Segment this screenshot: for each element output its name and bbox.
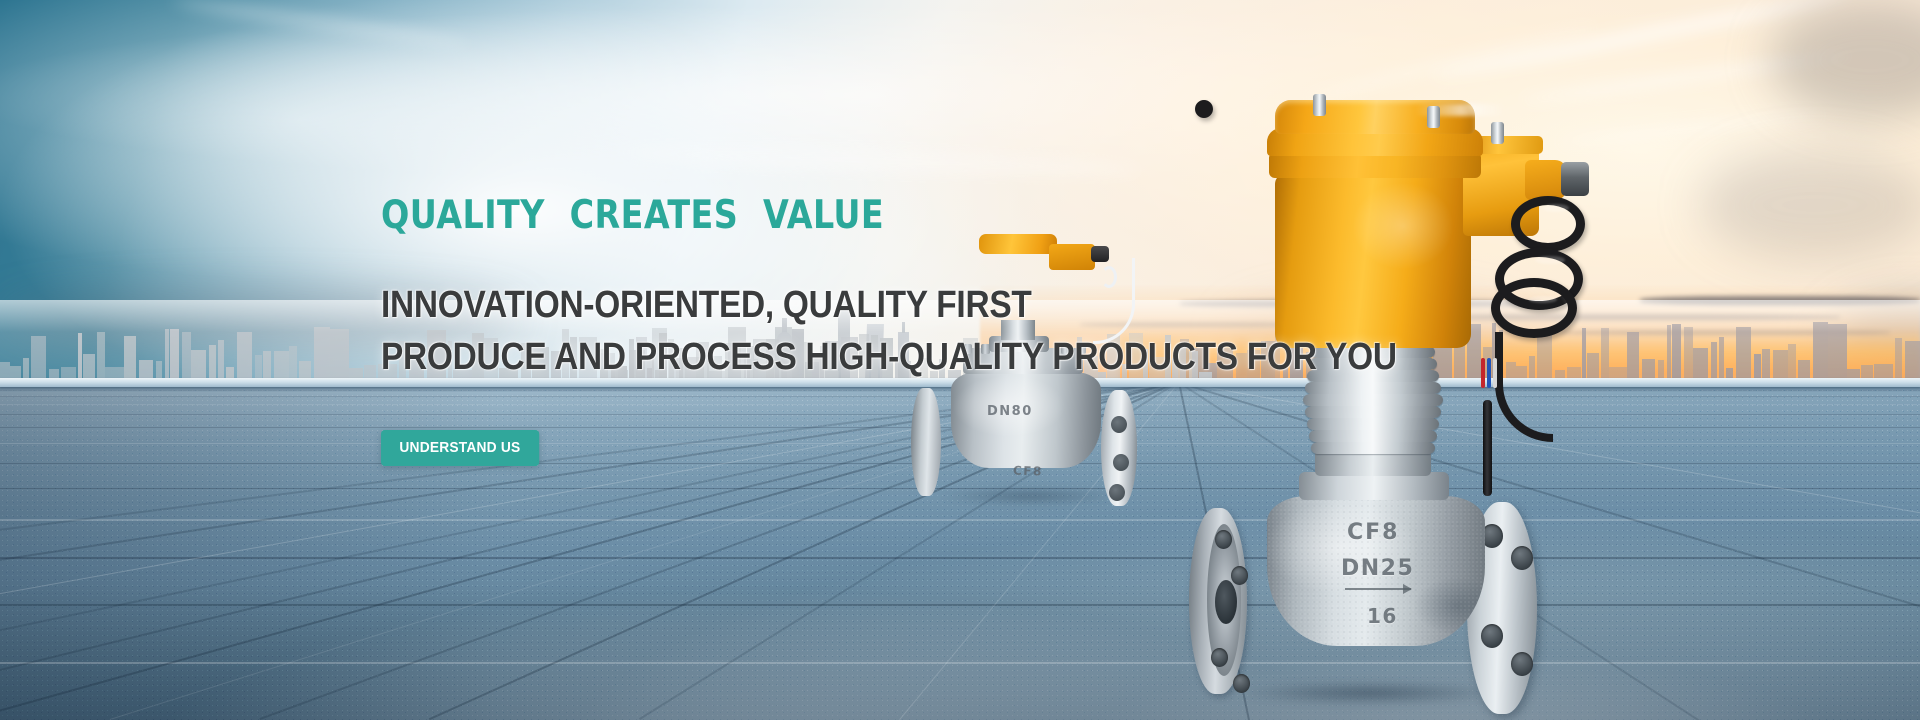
flange-bolt-hole xyxy=(1511,652,1533,676)
flange-bolt-hole xyxy=(1109,484,1125,501)
valve-material-marking: CF8 xyxy=(1347,520,1399,545)
subheadline-line-2: PRODUCE AND PROCESS HIGH-QUALITY PRODUCT… xyxy=(381,331,1437,383)
flange-bolt-hole xyxy=(1481,624,1503,648)
valve-bonnet xyxy=(1299,472,1449,500)
subheadline-line-1: INNOVATION-ORIENTED, QUALITY FIRST xyxy=(381,279,1437,331)
headline-word: VALUE xyxy=(763,196,884,235)
flange-bolt-hole xyxy=(1215,530,1232,549)
understand-us-button[interactable]: UNDERSTAND US xyxy=(381,430,539,466)
headline-word: QUALITY xyxy=(381,196,545,235)
hero-banner: DN80 CF8 CF8 DN25 xyxy=(0,0,1920,720)
valve-size-marking: DN25 xyxy=(1341,556,1414,581)
page-title: QUALITYCREATESVALUE xyxy=(381,196,1521,235)
hero-subheadline: INNOVATION-ORIENTED, QUALITY FIRST PRODU… xyxy=(381,279,1437,383)
hero-copy: QUALITYCREATESVALUE INNOVATION-ORIENTED,… xyxy=(381,196,1581,466)
actuator-cap xyxy=(1275,100,1475,134)
valve-pressure-marking: 16 xyxy=(1367,604,1398,628)
flange-bolt-hole xyxy=(1231,566,1248,585)
cable-gland xyxy=(1561,162,1589,196)
valve-bore xyxy=(1215,580,1237,624)
flange-bolt-hole xyxy=(1511,546,1533,570)
flow-direction-arrow-icon xyxy=(1345,588,1411,590)
flange-bolt-hole xyxy=(1233,674,1250,693)
flange-bolt-hole xyxy=(1211,648,1228,667)
actuator-bolt xyxy=(1313,94,1326,116)
actuator-bolt xyxy=(1491,122,1504,144)
headline-word: CREATES xyxy=(570,196,739,235)
cloud-mass xyxy=(1700,150,1920,260)
actuator-bolt xyxy=(1427,106,1440,128)
coiled-cable-loop xyxy=(1195,100,1213,118)
